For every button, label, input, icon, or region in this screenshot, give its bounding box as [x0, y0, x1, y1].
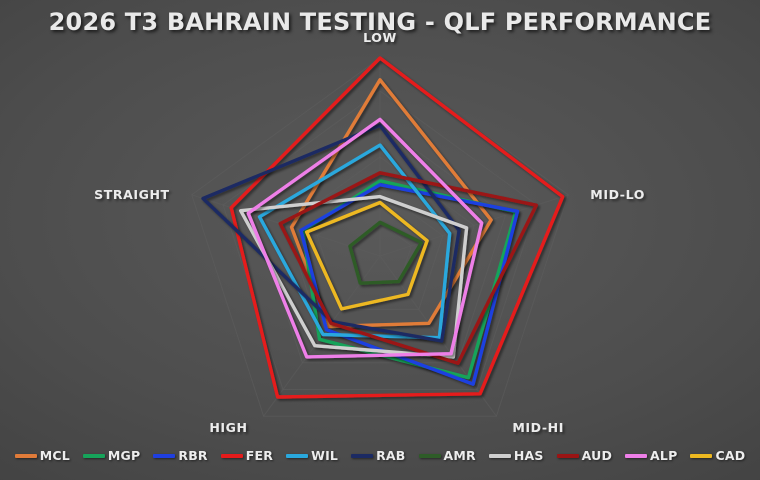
- legend-swatch-icon: [625, 454, 647, 458]
- legend-label: RBR: [178, 448, 207, 463]
- legend-item-mgp[interactable]: MGP: [83, 448, 140, 463]
- axis-label-mid-lo: MID-LO: [590, 187, 645, 202]
- legend-swatch-icon: [153, 454, 175, 458]
- legend-item-aud[interactable]: AUD: [557, 448, 612, 463]
- legend-item-amr[interactable]: AMR: [419, 448, 476, 463]
- legend-label: AMR: [444, 448, 476, 463]
- legend-item-rbr[interactable]: RBR: [153, 448, 207, 463]
- legend-label: FER: [246, 448, 273, 463]
- legend-swatch-icon: [83, 454, 105, 458]
- legend-swatch-icon: [690, 454, 712, 458]
- legend-label: RAB: [376, 448, 405, 463]
- legend-label: WIL: [311, 448, 338, 463]
- axis-label-straight: STRAIGHT: [94, 187, 170, 202]
- legend-swatch-icon: [286, 454, 308, 458]
- axis-label-low: LOW: [363, 30, 397, 45]
- legend-label: CAD: [715, 448, 745, 463]
- legend: MCLMGPRBRFERWILRABAMRHASAUDALPCAD: [0, 448, 760, 463]
- legend-swatch-icon: [351, 454, 373, 458]
- legend-swatch-icon: [557, 454, 579, 458]
- radar-chart-page: 2026 T3 BAHRAIN TESTING - QLF PERFORMANC…: [0, 0, 760, 480]
- legend-item-cad[interactable]: CAD: [690, 448, 745, 463]
- radar-chart: LOWMID-LOMID-HIHIGHSTRAIGHT: [0, 0, 760, 480]
- legend-item-mcl[interactable]: MCL: [15, 448, 70, 463]
- legend-label: AUD: [582, 448, 612, 463]
- legend-label: HAS: [514, 448, 544, 463]
- legend-item-fer[interactable]: FER: [221, 448, 273, 463]
- legend-label: MCL: [40, 448, 70, 463]
- legend-swatch-icon: [489, 454, 511, 458]
- legend-swatch-icon: [221, 454, 243, 458]
- legend-label: ALP: [650, 448, 677, 463]
- axis-label-mid-hi: MID-HI: [512, 420, 564, 435]
- legend-item-has[interactable]: HAS: [489, 448, 544, 463]
- radar-series-layer: [203, 58, 563, 397]
- legend-item-rab[interactable]: RAB: [351, 448, 405, 463]
- legend-swatch-icon: [419, 454, 441, 458]
- legend-item-alp[interactable]: ALP: [625, 448, 677, 463]
- axis-label-high: HIGH: [209, 420, 247, 435]
- radar-series-rab[interactable]: [203, 125, 459, 341]
- legend-item-wil[interactable]: WIL: [286, 448, 338, 463]
- legend-swatch-icon: [15, 454, 37, 458]
- legend-label: MGP: [108, 448, 140, 463]
- radar-series-amr[interactable]: [350, 222, 422, 283]
